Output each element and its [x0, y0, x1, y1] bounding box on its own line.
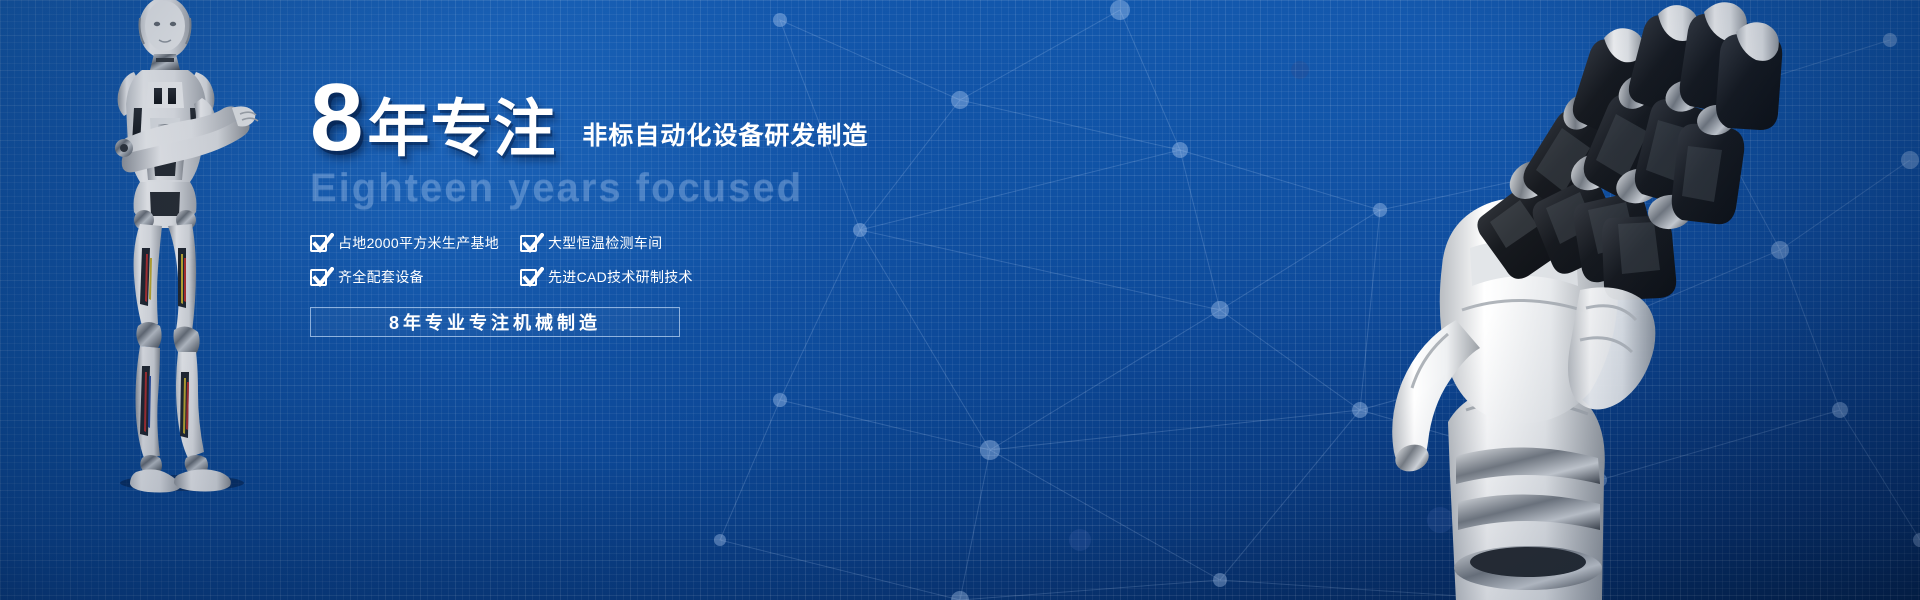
check-icon — [310, 235, 327, 252]
feature-item: 占地2000平方米生产基地 — [310, 233, 520, 253]
feature-label: 占地2000平方米生产基地 — [338, 233, 499, 253]
humanoid-robot-image — [62, 0, 312, 496]
robotic-hand-image — [1280, 0, 1900, 600]
banner-content: 8 年专注 非标自动化设备研发制造 Eighteen years focused… — [310, 74, 1070, 337]
years-number: 8 — [310, 77, 361, 160]
tagline-text: 8年专业专注机械制造 — [389, 309, 601, 335]
tagline-box: 8年专业专注机械制造 — [310, 307, 680, 337]
feature-item: 大型恒温检测车间 — [520, 233, 730, 253]
headline-chinese: 年专注 — [367, 101, 556, 160]
check-icon — [520, 269, 537, 286]
feature-label: 先进CAD技术研制技术 — [548, 267, 693, 287]
check-icon — [520, 235, 537, 252]
headline-subtitle: 非标自动化设备研发制造 — [582, 116, 868, 152]
feature-list: 占地2000平方米生产基地 大型恒温检测车间 齐全配套设备 先进CAD技术研制技… — [310, 233, 730, 301]
promo-banner: 8 年专注 非标自动化设备研发制造 Eighteen years focused… — [0, 0, 1920, 600]
feature-item: 齐全配套设备 — [310, 267, 520, 287]
feature-label: 大型恒温检测车间 — [548, 233, 662, 253]
check-icon — [310, 269, 327, 286]
headline-english-ghost: Eighteen years focused — [310, 166, 1070, 211]
feature-item: 先进CAD技术研制技术 — [520, 267, 730, 287]
feature-label: 齐全配套设备 — [338, 267, 424, 287]
headline-row: 8 年专注 非标自动化设备研发制造 — [310, 74, 1070, 160]
